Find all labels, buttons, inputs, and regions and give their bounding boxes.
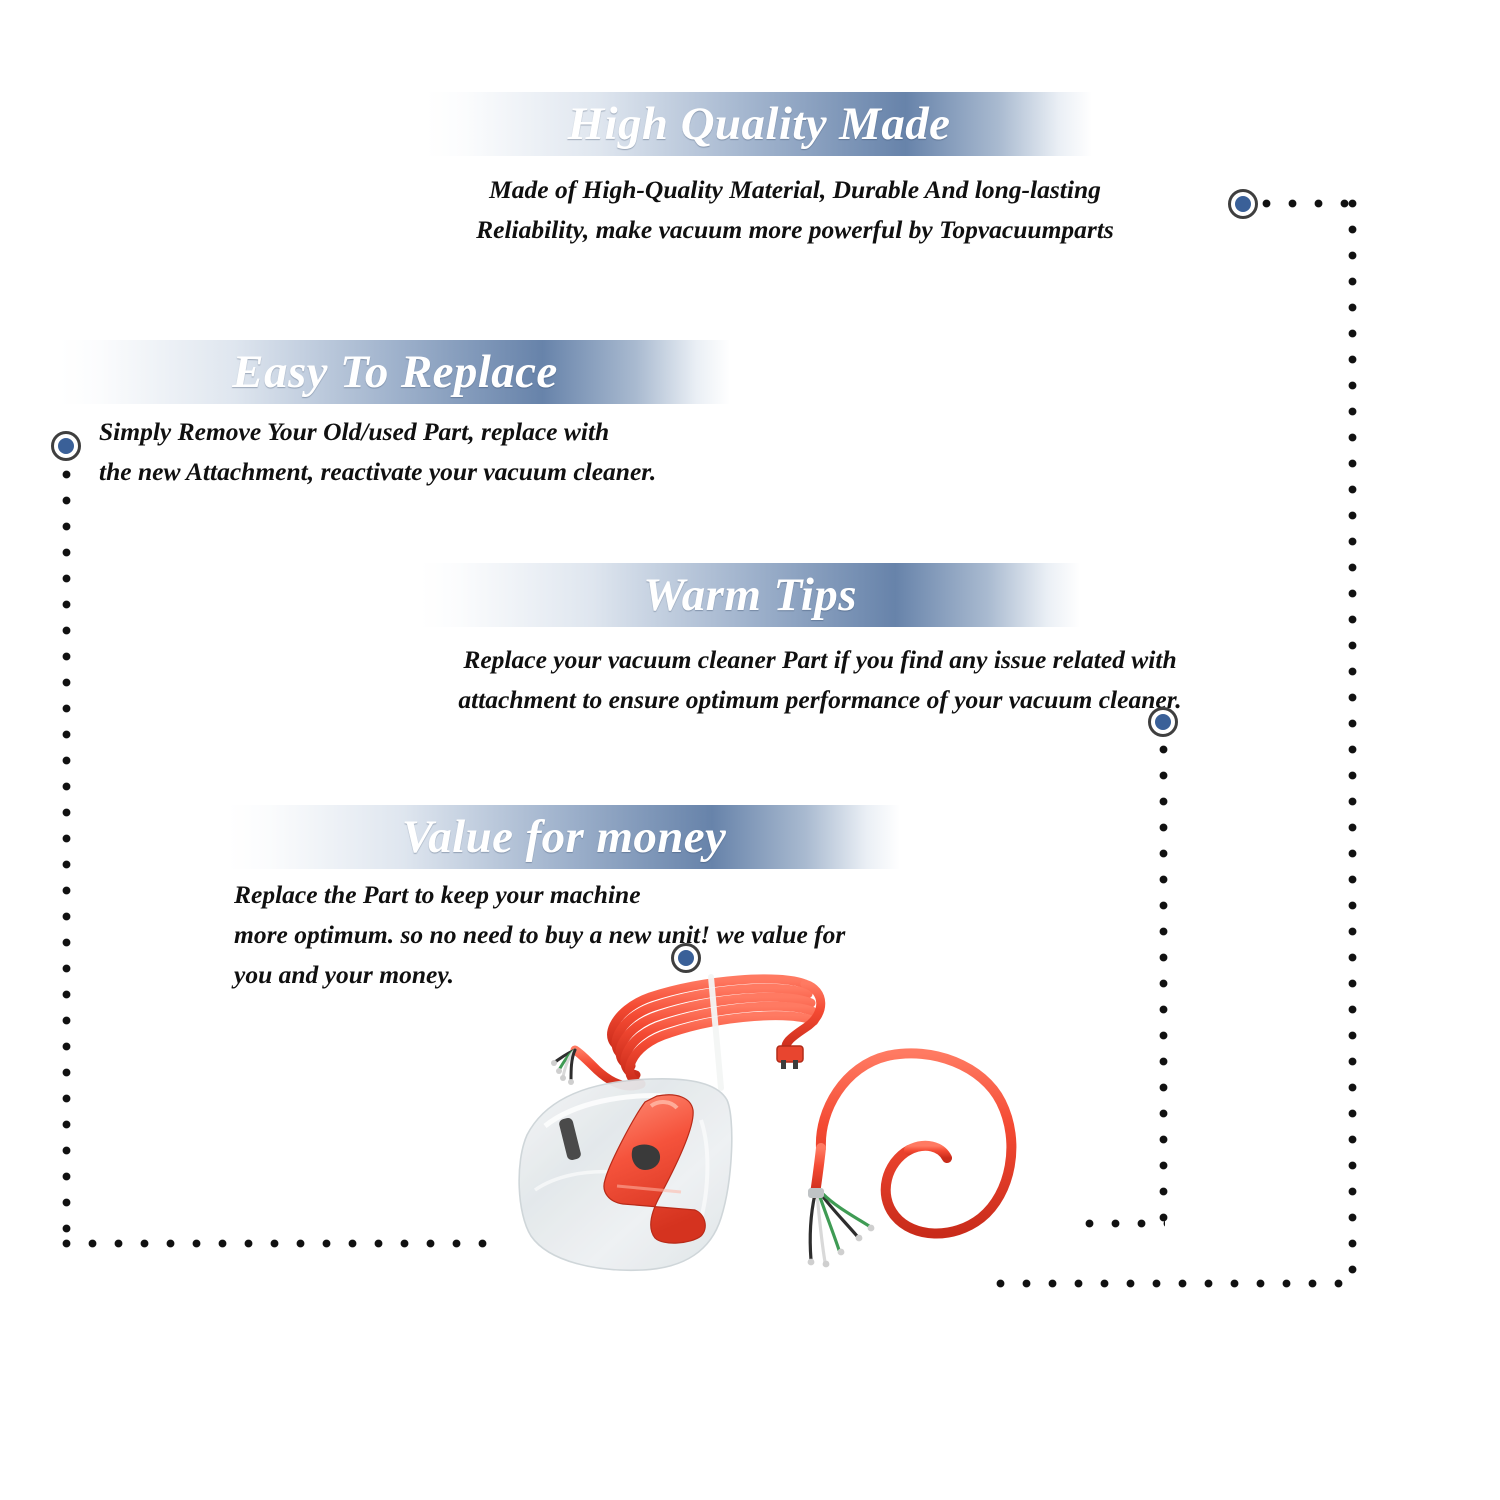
cord-plug (777, 1046, 803, 1069)
section-body-high-quality-made: Made of High-Quality Material, Durable A… (400, 170, 1190, 250)
bullet-marker-high-quality-made (1228, 189, 1258, 219)
bullet-marker-warm-tips (1148, 707, 1178, 737)
section-banner-value-for-money: Value for money (228, 805, 900, 869)
section-heading-value-for-money: Value for money (402, 810, 727, 864)
section-banner-easy-to-replace: Easy To Replace (60, 340, 730, 404)
coiled-power-cord (575, 977, 821, 1088)
section-heading-warm-tips: Warm Tips (643, 568, 857, 622)
section-heading-easy-to-replace: Easy To Replace (232, 345, 557, 399)
section-banner-warm-tips: Warm Tips (420, 563, 1080, 627)
section-body-easy-to-replace: Simply Remove Your Old/used Part, replac… (99, 412, 859, 492)
connector-bottom-right-horizontal (996, 1279, 1354, 1288)
red-wire-loop (808, 1053, 1012, 1267)
section-banner-high-quality-made: High Quality Made (426, 92, 1092, 156)
section-body-warm-tips: Replace your vacuum cleaner Part if you … (390, 640, 1250, 720)
connector-bottom-left-horizontal (62, 1239, 502, 1248)
bullet-marker-easy-to-replace (51, 431, 81, 461)
handle-in-plastic-bag (519, 1079, 732, 1270)
cord-bare-leads (551, 1050, 575, 1085)
product-photo (505, 950, 1045, 1295)
connector-right-vertical (1348, 199, 1357, 1289)
connector-warm-tips-vertical (1159, 745, 1168, 1225)
connector-warm-tips-horizontal (1085, 1219, 1165, 1228)
section-heading-high-quality-made: High Quality Made (568, 97, 951, 151)
connector-top-right-horizontal (1262, 199, 1358, 208)
infographic-canvas: High Quality Made Made of High-Quality M… (0, 0, 1500, 1500)
connector-left-vertical (62, 470, 71, 1250)
